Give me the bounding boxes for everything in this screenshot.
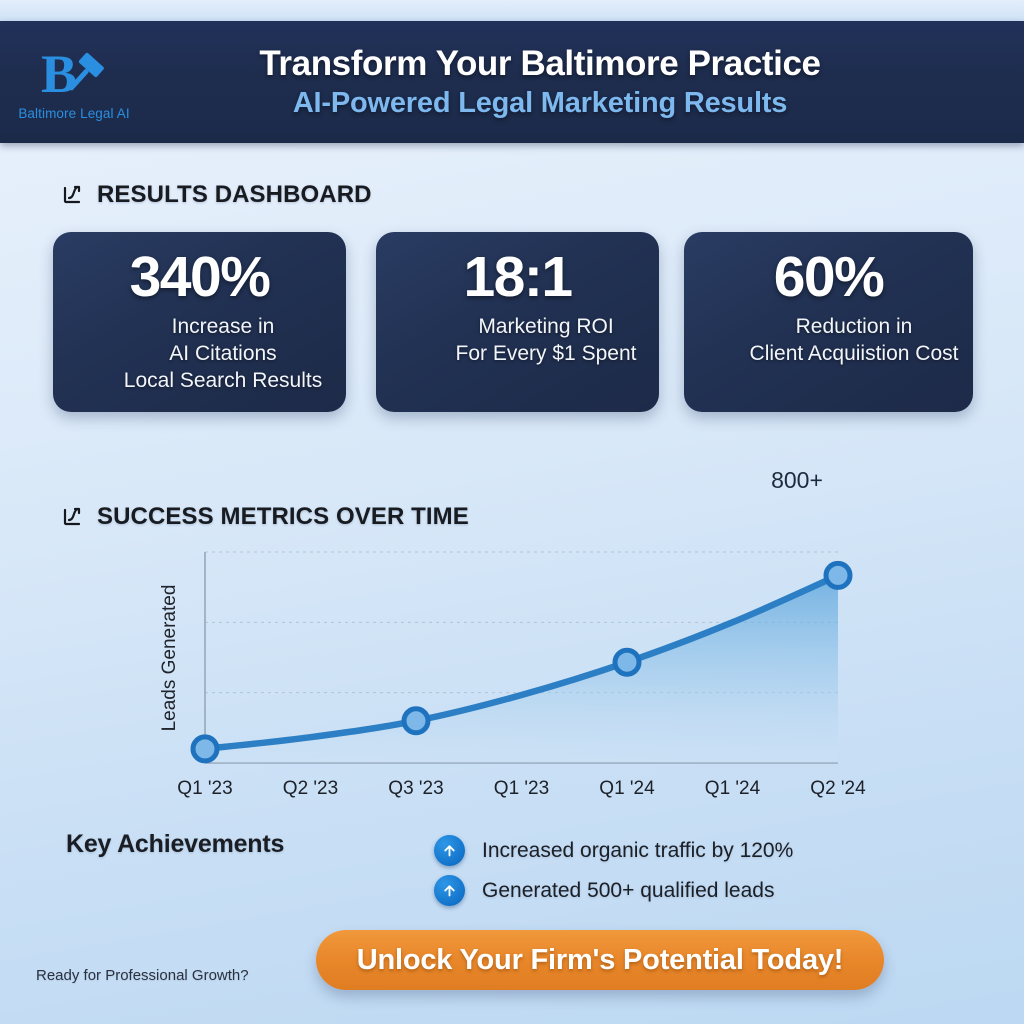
stat-caption: Marketing ROI For Every $1 Spent bbox=[376, 313, 716, 368]
achievement-text: Generated 500+ qualified leads bbox=[482, 879, 774, 903]
list-item: Generated 500+ qualified leads bbox=[434, 872, 954, 909]
key-achievements-title: Key Achievements bbox=[66, 830, 284, 859]
page-subtitle: AI-Powered Legal Marketing Results bbox=[293, 86, 787, 121]
stat-caption-line: AI Citations bbox=[169, 340, 276, 367]
chart-data-point bbox=[615, 650, 639, 674]
letter-b-gavel-icon: B bbox=[39, 42, 109, 104]
stat-caption-line: Local Search Results bbox=[124, 367, 322, 394]
chart-y-axis-label: Leads Generated bbox=[159, 585, 180, 732]
brand-name: Baltimore Legal AI bbox=[18, 106, 129, 121]
chart-area-fill bbox=[205, 575, 838, 763]
chart-x-tick-label: Q1 '24 bbox=[599, 778, 655, 799]
stat-card: 340% Increase in AI Citations Local Sear… bbox=[53, 232, 346, 412]
brand-logo[interactable]: B Baltimore Legal AI bbox=[10, 31, 138, 131]
stat-caption: Increase in AI Citations Local Search Re… bbox=[53, 313, 393, 395]
chart-x-tick-label: Q1 '23 bbox=[177, 778, 232, 799]
stat-value: 340% bbox=[130, 248, 270, 308]
chart-peak-annotation: 800+ bbox=[771, 467, 823, 493]
chart-x-tick-label: Q2 '23 bbox=[283, 778, 338, 799]
chart-data-point bbox=[193, 737, 217, 761]
page-title: Transform Your Baltimore Practice bbox=[259, 44, 820, 83]
cta-button[interactable]: Unlock Your Firm's Potential Today! bbox=[316, 930, 884, 990]
chart-x-tick-label: Q1 '23 bbox=[494, 778, 549, 799]
svg-text:B: B bbox=[41, 44, 77, 104]
results-dashboard-heading: RESULTS DASHBOARD bbox=[62, 181, 372, 209]
stat-card: 18:1 Marketing ROI For Every $1 Spent bbox=[376, 232, 659, 412]
stat-card: 60% Reduction in Client Acquiistion Cost bbox=[684, 232, 973, 412]
header-title-block: Transform Your Baltimore Practice AI-Pow… bbox=[160, 21, 920, 143]
leads-generated-chart: 800+ Leads Generated Q1 '23Q2 '23Q3 '23Q… bbox=[0, 455, 1024, 805]
achievement-text: Increased organic traffic by 120% bbox=[482, 839, 793, 863]
stat-caption-line: Reduction in bbox=[796, 313, 913, 340]
page-header: B Baltimore Legal AI Transform Your Balt… bbox=[0, 21, 1024, 143]
stat-card-row: 340% Increase in AI Citations Local Sear… bbox=[53, 232, 973, 412]
cta-note: Ready for Professional Growth? bbox=[36, 967, 249, 984]
chart-data-point bbox=[404, 709, 428, 733]
stat-value: 18:1 bbox=[463, 248, 571, 308]
trending-chart-icon bbox=[62, 183, 86, 207]
list-item: Increased organic traffic by 120% bbox=[434, 832, 954, 869]
stat-caption-line: Client Acquiistion Cost bbox=[750, 340, 959, 367]
arrow-up-circle-icon bbox=[434, 835, 465, 866]
stat-caption-line: Marketing ROI bbox=[478, 313, 613, 340]
chart-x-tick-label: Q2 '24 bbox=[810, 778, 866, 799]
results-dashboard-label: RESULTS DASHBOARD bbox=[97, 181, 372, 209]
top-edge-strip bbox=[0, 0, 1024, 21]
arrow-up-circle-icon bbox=[434, 875, 465, 906]
chart-x-tick-label: Q3 '23 bbox=[388, 778, 443, 799]
key-achievements-list: Increased organic traffic by 120% Genera… bbox=[434, 832, 954, 912]
stat-caption: Reduction in Client Acquiistion Cost bbox=[684, 313, 1024, 368]
chart-data-point bbox=[826, 563, 850, 587]
chart-x-tick-label: Q1 '24 bbox=[705, 778, 761, 799]
stat-caption-line: For Every $1 Spent bbox=[456, 340, 637, 367]
stat-value: 60% bbox=[774, 248, 884, 308]
stat-caption-line: Increase in bbox=[172, 313, 275, 340]
chart-x-tick-labels: Q1 '23Q2 '23Q3 '23Q1 '23Q1 '24Q1 '24Q2 '… bbox=[177, 778, 866, 799]
